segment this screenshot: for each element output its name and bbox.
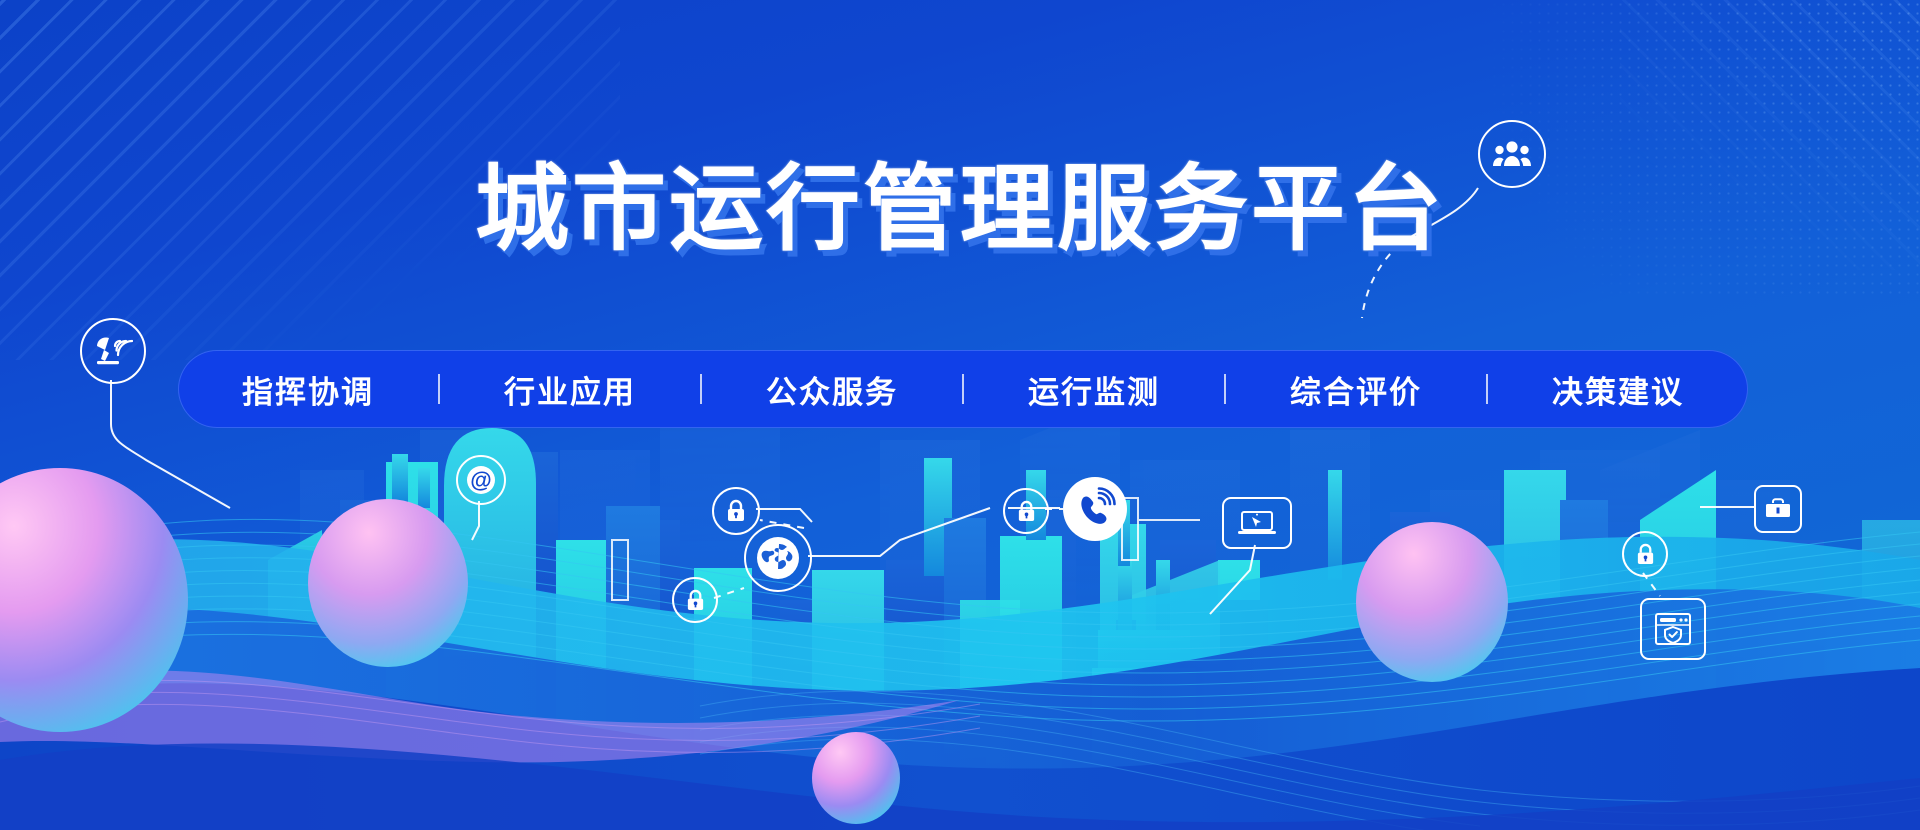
lock-icon[interactable]	[1622, 531, 1668, 577]
nav-item-decision-suggestion[interactable]: 决策建议	[1546, 367, 1690, 412]
lock-icon[interactable]	[672, 577, 718, 623]
briefcase-icon[interactable]	[1754, 485, 1802, 533]
at-sign-icon[interactable]: @	[456, 455, 506, 505]
gradient-sphere-left	[0, 468, 188, 732]
gradient-sphere-mid	[308, 499, 468, 667]
globe-icon[interactable]	[744, 524, 812, 592]
phone-signal-icon[interactable]	[1063, 477, 1127, 541]
city-platform-banner: 城市运行管理服务平台 指挥协调 行业应用 公众服务 运行监测 综合评价 决策建议	[0, 0, 1920, 830]
users-icon[interactable]	[1478, 120, 1546, 188]
svg-text:@: @	[470, 468, 491, 493]
dot-grid-bottom-decoration	[0, 590, 360, 830]
main-nav-bar: 指挥协调 行业应用 公众服务 运行监测 综合评价 决策建议	[178, 350, 1748, 428]
nav-separator	[1224, 374, 1226, 404]
nav-separator	[1486, 374, 1488, 404]
nav-item-public-service[interactable]: 公众服务	[760, 367, 904, 412]
gradient-sphere-bottom	[812, 732, 900, 824]
nav-item-operation-monitoring[interactable]: 运行监测	[1022, 367, 1166, 412]
page-title: 城市运行管理服务平台	[0, 160, 1920, 259]
nav-separator	[438, 374, 440, 404]
nav-item-comprehensive-evaluation[interactable]: 综合评价	[1284, 367, 1428, 412]
nav-separator	[700, 374, 702, 404]
satellite-dish-icon[interactable]	[80, 318, 146, 384]
lock-icon[interactable]	[712, 487, 760, 535]
laptop-cursor-icon[interactable]	[1222, 497, 1292, 549]
nav-item-industry-application[interactable]: 行业应用	[498, 367, 642, 412]
nav-item-command-coordination[interactable]: 指挥协调	[236, 367, 380, 412]
nav-separator	[962, 374, 964, 404]
gradient-sphere-right	[1356, 522, 1508, 682]
browser-shield-icon[interactable]	[1640, 598, 1706, 660]
lock-icon[interactable]	[1003, 488, 1049, 534]
